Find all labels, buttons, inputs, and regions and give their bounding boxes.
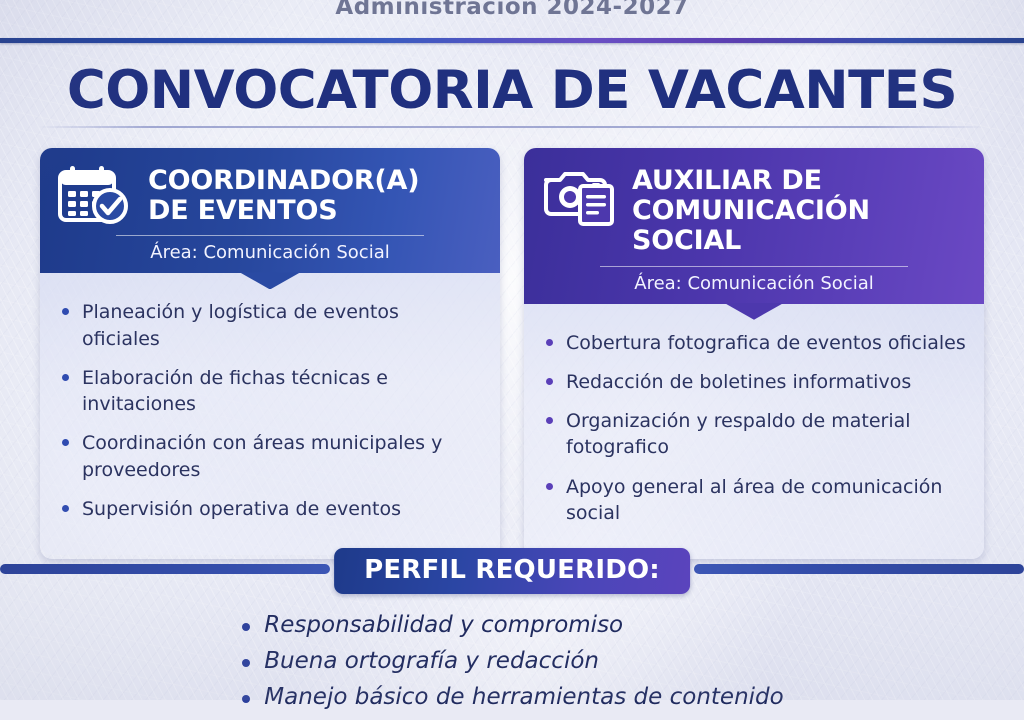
- list-item: Planeación y logística de eventos oficia…: [60, 299, 482, 351]
- vacancy-title: AUXILIAR DE COMUNICACIÓN SOCIAL: [632, 162, 968, 257]
- list-item: Responsabilidad y compromiso: [240, 612, 783, 638]
- page-title: CONVOCATORIA DE VACANTES: [0, 60, 1024, 121]
- header-separator: [600, 266, 908, 267]
- banner-bar-right: [694, 564, 1024, 574]
- list-item: Coordinación con áreas municipales y pro…: [60, 430, 482, 482]
- top-divider-rule: [0, 38, 1024, 43]
- poster-background: Administración 2024-2027 CONVOCATORIA DE…: [0, 0, 1024, 700]
- list-item: Apoyo general al área de comunicación so…: [544, 474, 966, 526]
- vacancy-card-coordinador: COORDINADOR(A) DE EVENTOS Área: Comunica…: [40, 148, 500, 559]
- profile-requirements: Responsabilidad y compromiso Buena ortog…: [0, 612, 1024, 720]
- vacancy-title-line2: COMUNICACIÓN SOCIAL: [632, 196, 968, 256]
- vacancy-area: Área: Comunicación Social: [540, 273, 968, 294]
- calendar-check-icon: [56, 164, 134, 226]
- vacancy-title-line1: AUXILIAR DE: [632, 166, 968, 196]
- list-item: Supervisión operativa de eventos: [60, 496, 482, 522]
- vacancy-duties: Cobertura fotografica de eventos oficial…: [524, 304, 984, 559]
- vacancy-cards: COORDINADOR(A) DE EVENTOS Área: Comunica…: [40, 148, 984, 559]
- camera-document-icon: [540, 164, 618, 226]
- vacancy-card-header: AUXILIAR DE COMUNICACIÓN SOCIAL Área: Co…: [524, 148, 984, 304]
- administration-line: Administración 2024-2027: [0, 0, 1024, 20]
- vacancy-title-line2: DE EVENTOS: [148, 196, 419, 226]
- list-item: Elaboración de fichas técnicas e invitac…: [60, 365, 482, 417]
- list-item: Organización y respaldo de material foto…: [544, 408, 966, 460]
- vacancy-duties: Planeación y logística de eventos oficia…: [40, 273, 500, 555]
- title-underline: [38, 126, 986, 128]
- vacancy-area: Área: Comunicación Social: [56, 242, 484, 263]
- banner-bar-left: [0, 564, 330, 574]
- vacancy-card-header: COORDINADOR(A) DE EVENTOS Área: Comunica…: [40, 148, 500, 273]
- header-separator: [116, 235, 424, 236]
- list-item: Buena ortografía y redacción: [240, 648, 783, 674]
- vacancy-title: COORDINADOR(A) DE EVENTOS: [148, 162, 419, 226]
- list-item: Cobertura fotografica de eventos oficial…: [544, 330, 966, 356]
- list-item: Manejo básico de herramientas de conteni…: [240, 684, 783, 710]
- vacancy-title-line1: COORDINADOR(A): [148, 166, 419, 196]
- vacancy-card-auxiliar: AUXILIAR DE COMUNICACIÓN SOCIAL Área: Co…: [524, 148, 984, 559]
- profile-banner: PERFIL REQUERIDO:: [0, 548, 1024, 590]
- list-item: Redacción de boletines informativos: [544, 369, 966, 395]
- profile-banner-label: PERFIL REQUERIDO:: [334, 548, 690, 594]
